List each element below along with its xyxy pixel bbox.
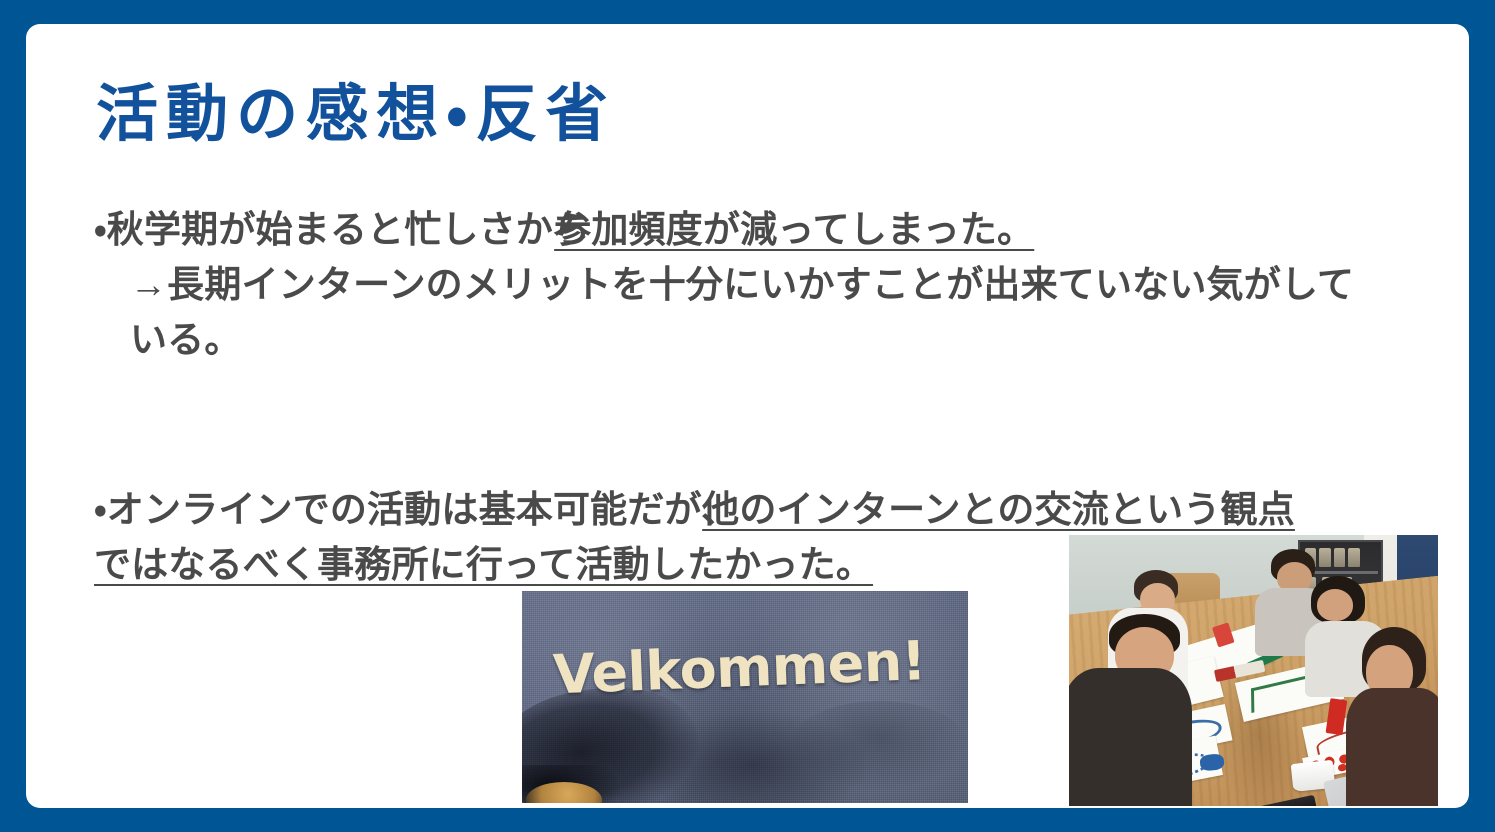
paragraph-2-line-1-plain: オンラインでの活動は基本可能だが、 xyxy=(107,489,738,530)
person-front-left xyxy=(1076,614,1224,806)
paragraph-1-line-1-underlined: 参加頻度が減ってしまった。 xyxy=(590,202,1034,257)
paragraph-2-line-1-underlined: 他のインターンとの交流という観点 xyxy=(738,482,1295,537)
paragraph-1: ・秋学期が始まると忙しさから参加頻度が減ってしまった。 →長期インターンのメリッ… xyxy=(94,202,1464,367)
paragraph-2-line-1: ・オンラインでの活動は基本可能だが、他のインターンとの交流という観点 xyxy=(94,482,1464,537)
body-text-block: ・秋学期が始まると忙しさから参加頻度が減ってしまった。 →長期インターンのメリッ… xyxy=(94,202,1464,592)
paragraph-1-line-3: いる。 xyxy=(94,312,1464,367)
slide-content-area: 活動の感想・反省 ・秋学期が始まると忙しさから参加頻度が減ってしまった。 →長期… xyxy=(26,24,1469,808)
bullet-marker-1: ・ xyxy=(94,209,107,250)
page-title: 活動の感想・反省 xyxy=(96,78,616,152)
slide-root: 活動の感想・反省 ・秋学期が始まると忙しさから参加頻度が減ってしまった。 →長期… xyxy=(0,0,1495,832)
cabinet-bottle-4 xyxy=(1348,548,1359,567)
person-front-right xyxy=(1342,627,1438,806)
paragraph-1-line-2: →長期インターンのメリットを十分にいかすことが出来ていない気がして xyxy=(94,257,1464,312)
paragraph-1-line-1-plain: 秋学期が始まると忙しさから xyxy=(107,209,590,250)
workshop-table-photo xyxy=(1069,535,1438,806)
bullet-marker-2: ・ xyxy=(94,489,107,530)
paragraph-1-line-1: ・秋学期が始まると忙しさから参加頻度が減ってしまった。 xyxy=(94,202,1464,257)
welcome-doormat-photo: Velkommen! xyxy=(522,591,968,803)
